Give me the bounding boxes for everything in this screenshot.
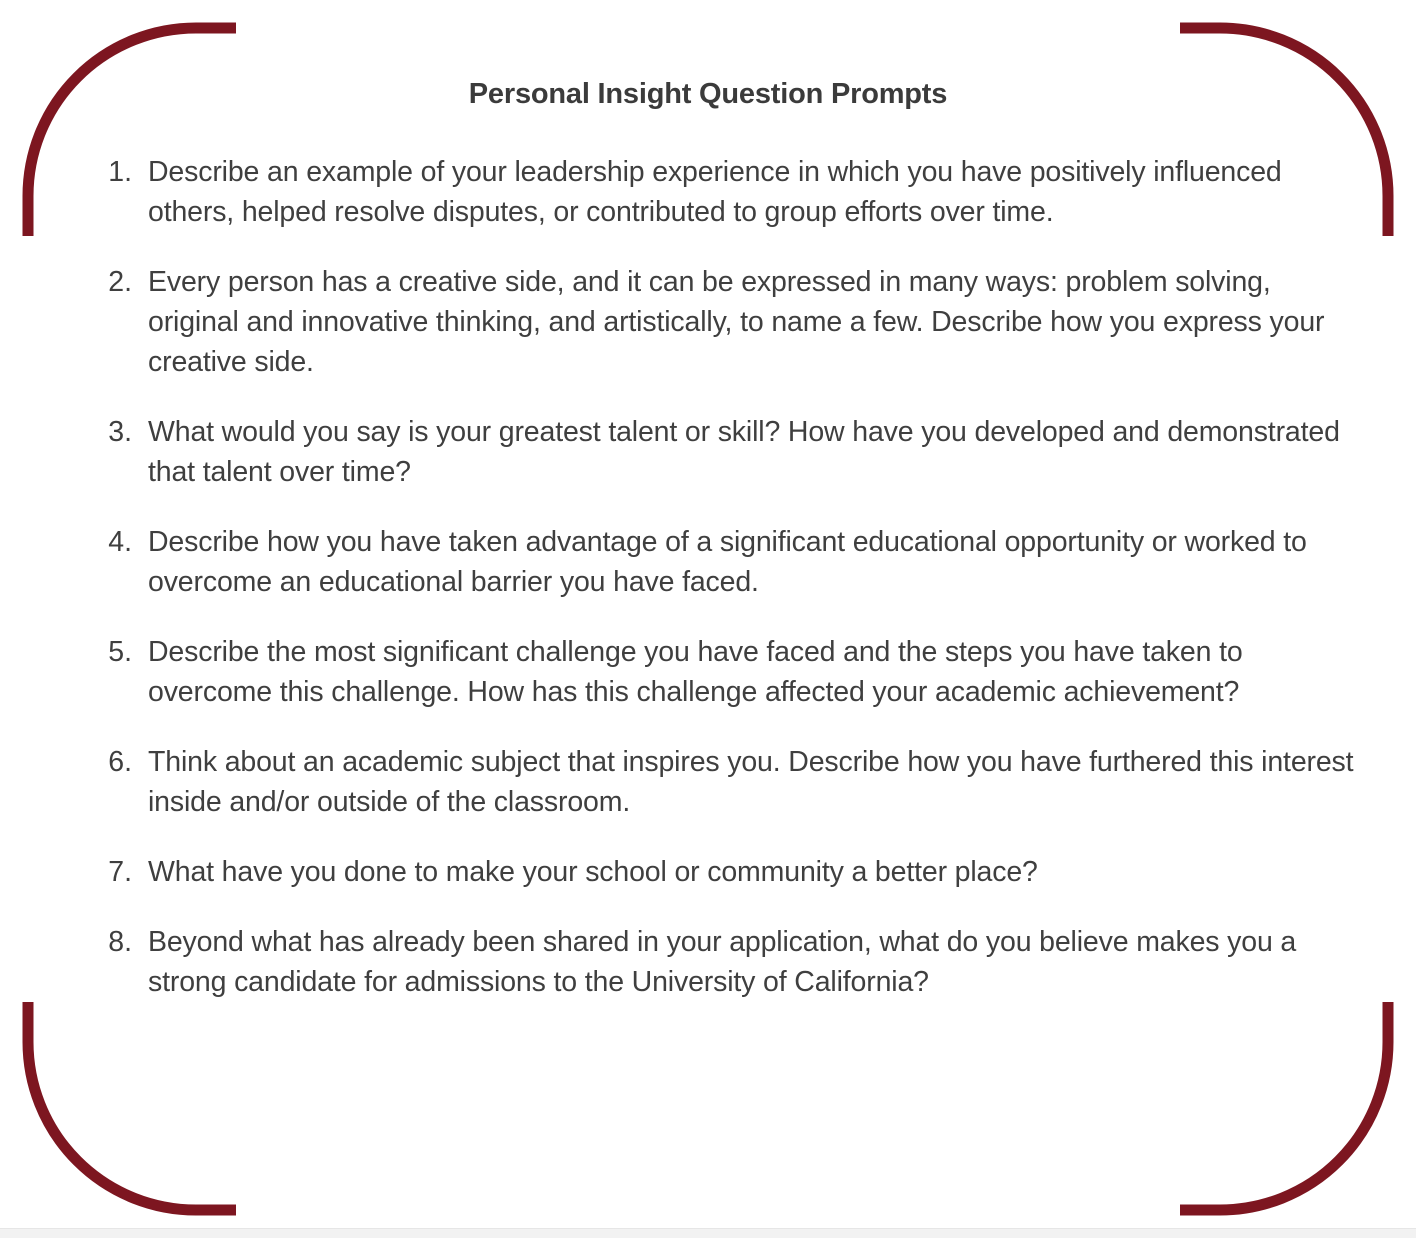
list-item-number: 8. <box>86 922 148 962</box>
list-item-number: 5. <box>86 632 148 672</box>
list-item-number: 4. <box>86 522 148 562</box>
list-item-text: Every person has a creative side, and it… <box>148 262 1358 382</box>
page-bottom-edge <box>0 1228 1416 1238</box>
list-item: 7. What have you done to make your schoo… <box>86 852 1358 892</box>
list-item-number: 7. <box>86 852 148 892</box>
list-item: 1. Describe an example of your leadershi… <box>86 152 1358 232</box>
list-item-number: 6. <box>86 742 148 782</box>
list-item: 6. Think about an academic subject that … <box>86 742 1358 822</box>
list-item: 2. Every person has a creative side, and… <box>86 262 1358 382</box>
list-item-number: 2. <box>86 262 148 302</box>
list-item: 3. What would you say is your greatest t… <box>86 412 1358 492</box>
list-item: 5. Describe the most significant challen… <box>86 632 1358 712</box>
list-item-text: Describe the most significant challenge … <box>148 632 1358 712</box>
list-item-text: Describe an example of your leadership e… <box>148 152 1358 232</box>
document-content: Personal Insight Question Prompts 1. Des… <box>0 0 1416 1238</box>
prompt-list: 1. Describe an example of your leadershi… <box>86 152 1358 1002</box>
page-title: Personal Insight Question Prompts <box>0 78 1416 111</box>
list-item-text: Beyond what has already been shared in y… <box>148 922 1358 1002</box>
list-item-text: What would you say is your greatest tale… <box>148 412 1358 492</box>
list-item-number: 1. <box>86 152 148 192</box>
list-item-text: Think about an academic subject that ins… <box>148 742 1358 822</box>
list-item-text: What have you done to make your school o… <box>148 852 1358 892</box>
list-item: 8. Beyond what has already been shared i… <box>86 922 1358 1002</box>
document-page: Personal Insight Question Prompts 1. Des… <box>0 0 1416 1238</box>
list-item-text: Describe how you have taken advantage of… <box>148 522 1358 602</box>
list-item: 4. Describe how you have taken advantage… <box>86 522 1358 602</box>
list-item-number: 3. <box>86 412 148 452</box>
